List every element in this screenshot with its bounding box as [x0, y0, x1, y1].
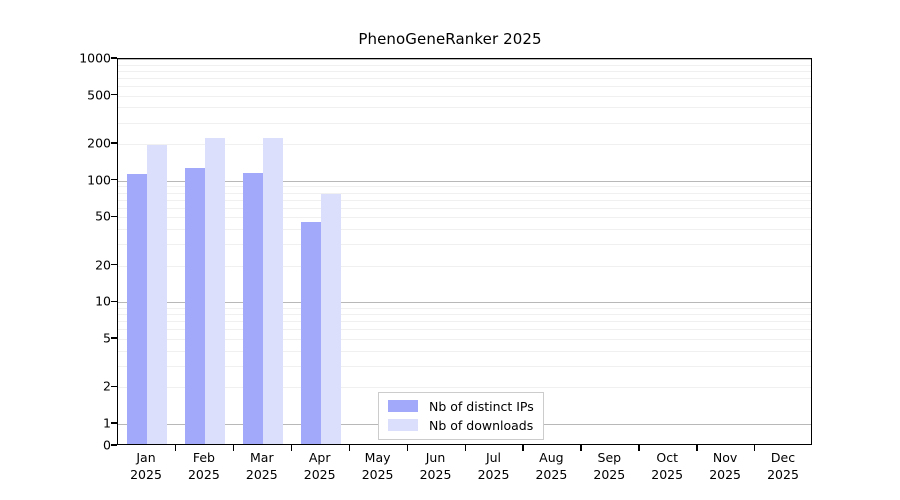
chart-container: PhenoGeneRanker 2025 0125102050100200500…	[0, 0, 900, 500]
bar	[243, 173, 263, 444]
x-axis-tick-label: Dec2025	[767, 449, 799, 483]
y-axis-tick-label: 10	[95, 294, 111, 309]
y-axis-tick-label: 500	[87, 87, 111, 102]
y-axis-tick-label: 5	[103, 331, 111, 346]
y-axis-tick-label: 20	[95, 257, 111, 272]
bars-layer	[118, 59, 811, 444]
bar	[301, 222, 321, 444]
x-axis-tick-label-line: 2025	[246, 466, 278, 483]
x-axis-tick-mark	[175, 445, 176, 451]
x-axis-tick-label-line: 2025	[188, 466, 220, 483]
x-axis-tick-label-line: Oct	[651, 449, 683, 466]
x-axis-tick-mark	[580, 445, 581, 451]
x-axis-tick-label: Jan2025	[130, 449, 162, 483]
legend-label-distinct-ips: Nb of distinct IPs	[429, 399, 534, 414]
x-axis-tick-label-line: Dec	[767, 449, 799, 466]
x-axis-tick-label-line: 2025	[420, 466, 452, 483]
x-axis-tick-label-line: Mar	[246, 449, 278, 466]
y-axis-tick-label: 50	[95, 209, 111, 224]
y-axis-tick-label: 1	[103, 416, 111, 431]
plot-area	[117, 58, 812, 445]
x-axis-tick-label: Jul2025	[478, 449, 510, 483]
bar	[127, 174, 147, 444]
x-axis-tick-label-line: Nov	[709, 449, 741, 466]
x-axis-tick-label: Oct2025	[651, 449, 683, 483]
x-axis-tick-mark	[522, 445, 523, 451]
x-axis-tick-label: May2025	[362, 449, 394, 483]
x-axis-tick-label-line: Sep	[593, 449, 625, 466]
bar	[147, 145, 167, 444]
x-axis-tick-mark	[696, 445, 697, 451]
y-axis-tick-label: 200	[87, 136, 111, 151]
x-axis-tick-label-line: Aug	[535, 449, 567, 466]
x-axis-tick-label: Aug2025	[535, 449, 567, 483]
x-axis-tick-mark	[349, 445, 350, 451]
x-axis-tick-label-line: 2025	[362, 466, 394, 483]
x-axis-tick-label: Feb2025	[188, 449, 220, 483]
x-axis-tick-label: Mar2025	[246, 449, 278, 483]
x-axis-tick-label: Apr2025	[304, 449, 336, 483]
x-axis-tick-label: Nov2025	[709, 449, 741, 483]
x-axis-tick-mark	[638, 445, 639, 451]
x-axis-tick-mark	[407, 445, 408, 451]
x-axis-tick-label-line: Apr	[304, 449, 336, 466]
bar	[321, 194, 341, 444]
x-axis-tick-label-line: Feb	[188, 449, 220, 466]
y-axis-tick-label: 2	[103, 379, 111, 394]
legend-label-downloads: Nb of downloads	[429, 418, 533, 433]
legend-swatch-distinct-ips	[388, 400, 418, 412]
legend-swatch-downloads	[388, 419, 418, 431]
x-axis-tick-label: Sep2025	[593, 449, 625, 483]
x-axis-tick-label-line: 2025	[478, 466, 510, 483]
bar	[185, 168, 205, 444]
x-axis-tick-label-line: 2025	[535, 466, 567, 483]
y-axis-tick-label: 0	[103, 438, 111, 453]
x-axis-tick-label-line: 2025	[651, 466, 683, 483]
x-axis-tick-label-line: Jan	[130, 449, 162, 466]
x-axis-tick-label-line: 2025	[304, 466, 336, 483]
legend-item-downloads: Nb of downloads	[388, 417, 534, 433]
y-axis-tick-labels: 01251020501002005001000	[55, 58, 111, 445]
x-axis-tick-label-line: 2025	[593, 466, 625, 483]
x-axis-tick-mark	[465, 445, 466, 451]
x-axis-tick-label-line: 2025	[767, 466, 799, 483]
y-axis-tick-label: 1000	[79, 51, 111, 66]
x-axis-tick-label-line: 2025	[130, 466, 162, 483]
x-axis-tick-label-line: Jun	[420, 449, 452, 466]
x-axis-tick-labels: Jan2025Feb2025Mar2025Apr2025May2025Jun20…	[117, 449, 812, 495]
x-axis-tick-mark	[754, 445, 755, 451]
x-axis-tick-label-line: 2025	[709, 466, 741, 483]
chart-legend: Nb of distinct IPs Nb of downloads	[378, 392, 544, 440]
x-axis-tick-mark	[233, 445, 234, 451]
bar	[263, 138, 283, 445]
y-axis-tick-label: 100	[87, 172, 111, 187]
x-axis-tick-mark	[291, 445, 292, 451]
x-axis-tick-label-line: Jul	[478, 449, 510, 466]
x-axis-tick-label: Jun2025	[420, 449, 452, 483]
bar	[205, 138, 225, 444]
legend-item-distinct-ips: Nb of distinct IPs	[388, 398, 534, 414]
x-axis-tick-label-line: May	[362, 449, 394, 466]
chart-title: PhenoGeneRanker 2025	[0, 30, 900, 48]
